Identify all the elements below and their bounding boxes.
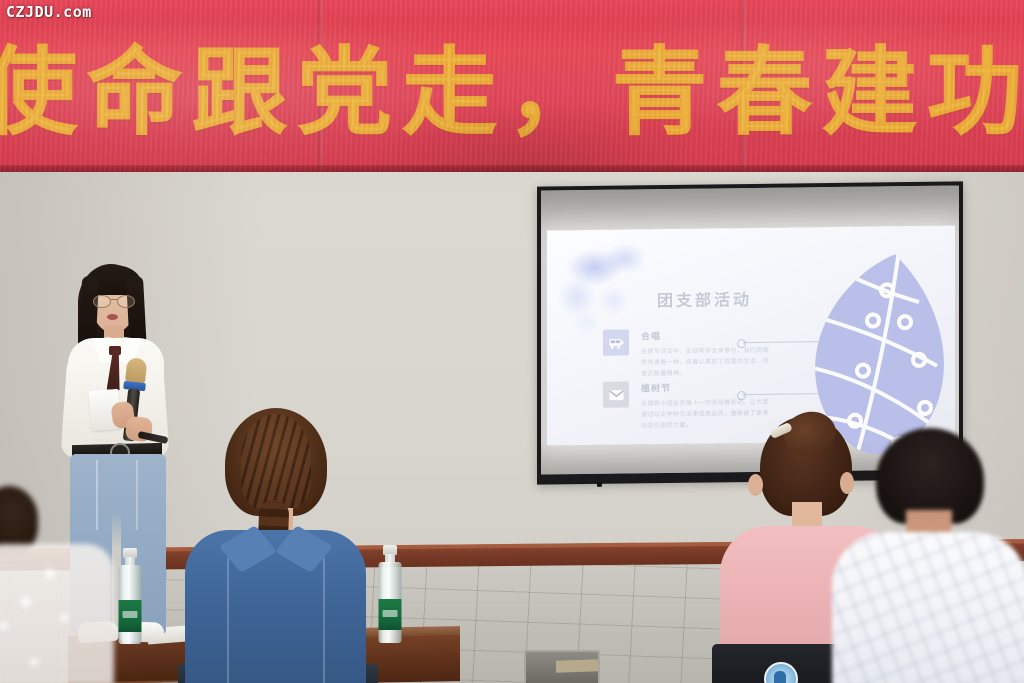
presentation-photo-scene: 使命跟党走，青春建功新时 CZJDU.com 团支部活动 — [0, 0, 1024, 683]
slide-title: 团支部活动 — [657, 286, 752, 311]
audience-member-right — [846, 428, 1024, 683]
denim-jacket — [185, 530, 366, 683]
jacket-seam — [227, 558, 229, 683]
banner-slogan-text: 使命跟党走，青春建功新时 — [0, 24, 1024, 144]
floor-plank — [556, 659, 598, 672]
attendee-head — [0, 486, 38, 552]
audience-member-foreground-left — [0, 486, 104, 683]
slide-leader-dot — [737, 391, 746, 400]
audience-member-braid — [183, 408, 368, 683]
slide-section-1: 合唱 在建节活动中，支部同学全体参与，我们用歌声传递着一种，向着认真的了同意的生… — [603, 328, 769, 380]
bus-icon — [603, 329, 629, 355]
water-bottle — [378, 545, 401, 641]
jacket-seam — [323, 558, 325, 683]
bottle-label — [118, 600, 141, 632]
screen-mount — [597, 482, 602, 487]
jeans-seam — [136, 460, 138, 530]
projected-slide: 团支部活动 — [547, 225, 955, 445]
slide-watercolor-decoration — [553, 235, 663, 341]
attendee-ear — [748, 474, 763, 496]
braid-texture — [241, 414, 311, 510]
microphone-head — [125, 357, 148, 384]
slide-section-2-heading: 植树节 — [641, 380, 769, 395]
glasses-icon — [92, 295, 136, 306]
mail-icon — [603, 381, 629, 407]
patterned-shirt — [832, 532, 1024, 683]
presenter-mouth — [107, 314, 118, 320]
polka-dot-top — [0, 544, 114, 683]
water-bottle — [118, 548, 141, 644]
slide-content: 团支部活动 — [547, 225, 955, 445]
slide-section-1-text: 合唱 在建节活动中，支部同学全体参与，我们用歌声传递着一种，向着认真的了同意的生… — [641, 328, 769, 380]
slide-leader-dot — [737, 339, 746, 348]
watermark-text: CZJDU.com — [6, 3, 92, 21]
slide-section-1-heading: 合唱 — [641, 328, 769, 343]
red-slogan-banner: 使命跟党走，青春建功新时 — [0, 0, 1024, 172]
bottle-label — [378, 599, 401, 630]
slide-section-1-body: 在建节活动中，支部同学全体参与，我们用歌声传递着一种，向着认真的了同意的生活，传… — [641, 345, 769, 380]
banner-bottom-edge — [0, 165, 1024, 172]
